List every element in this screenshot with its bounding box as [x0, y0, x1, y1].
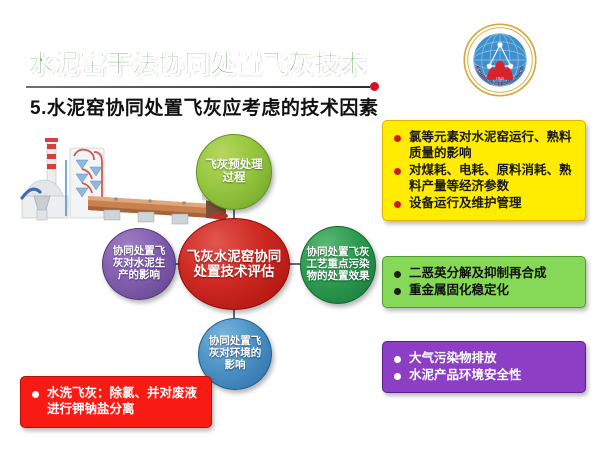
list-item: 设备运行及维护管理 — [392, 195, 575, 211]
callout-purple-list: 大气污染物排放 水泥产品环境安全性 — [392, 350, 575, 383]
mindmap-node-top[interactable]: 飞灰预处理过程 — [196, 134, 272, 210]
callout-yellow-list: 氯等元素对水泥窑运行、熟料质量的影响 对煤耗、电耗、原料消耗、熟料产量等经济参数… — [392, 129, 575, 211]
list-item: 二恶英分解及抑制再合成 — [392, 265, 575, 281]
title-divider — [26, 86, 370, 88]
callout-red-list: 水洗飞灰：除氯、并对废液进行钾钠盐分离 — [30, 385, 201, 418]
mindmap-node-left[interactable]: 协同处置飞灰对水泥生产的影响 — [102, 228, 176, 300]
list-item: 水泥产品环境安全性 — [392, 367, 575, 383]
page-title: 水泥窑干法协同处置飞灰技术 — [28, 44, 366, 80]
section-subtitle: 5.水泥窑协同处置飞灰应考虑的技术因素 — [30, 93, 378, 120]
list-item: 水洗飞灰：除氯、并对废液进行钾钠盐分离 — [30, 385, 201, 418]
mindmap-node-bottom-label: 协同处置飞灰对环境的影响 — [199, 336, 271, 372]
list-item: 氯等元素对水泥窑运行、熟料质量的影响 — [392, 129, 575, 161]
mindmap-node-center[interactable]: 飞灰水泥窑协同处置技术评估 — [178, 218, 290, 310]
callout-box-yellow: 氯等元素对水泥窑运行、熟料质量的影响 对煤耗、电耗、原料消耗、熟料产量等经济参数… — [382, 120, 586, 221]
chinese-ceramic-society-logo: 1945 中国硅酸盐学会 THE CHINESE CERAMIC SOCIETY — [462, 22, 538, 98]
mindmap-node-right[interactable]: 协同处置飞灰工艺重点污染物的处置效果 — [300, 226, 376, 304]
mindmap-node-right-label: 协同处置飞灰工艺重点污染物的处置效果 — [301, 247, 375, 283]
mindmap-node-center-label: 飞灰水泥窑协同处置技术评估 — [179, 249, 289, 280]
callout-green-list: 二恶英分解及抑制再合成 重金属固化稳定化 — [392, 265, 575, 298]
callout-box-purple: 大气污染物排放 水泥产品环境安全性 — [382, 341, 586, 393]
list-item: 大气污染物排放 — [392, 350, 575, 366]
callout-box-green: 二恶英分解及抑制再合成 重金属固化稳定化 — [382, 256, 586, 308]
list-item: 对煤耗、电耗、原料消耗、熟料产量等经济参数 — [392, 162, 575, 194]
mindmap-node-top-label: 飞灰预处理过程 — [197, 159, 271, 185]
callout-box-red: 水洗飞灰：除氯、并对废液进行钾钠盐分离 — [20, 376, 212, 428]
mindmap-node-left-label: 协同处置飞灰对水泥生产的影响 — [103, 246, 175, 282]
mindmap-diagram: 飞灰水泥窑协同处置技术评估 飞灰预处理过程 协同处置飞灰对水泥生产的影响 协同处… — [92, 128, 382, 390]
logo-year: 1945 — [496, 76, 505, 81]
logo-icon: 1945 中国硅酸盐学会 THE CHINESE CERAMIC SOCIETY — [462, 22, 538, 98]
title-divider-dot — [370, 82, 379, 91]
list-item: 重金属固化稳定化 — [392, 282, 575, 298]
slide-canvas: 水泥窑干法协同处置飞灰技术 5.水泥窑协同处置飞灰应考虑的技术因素 — [0, 0, 600, 450]
